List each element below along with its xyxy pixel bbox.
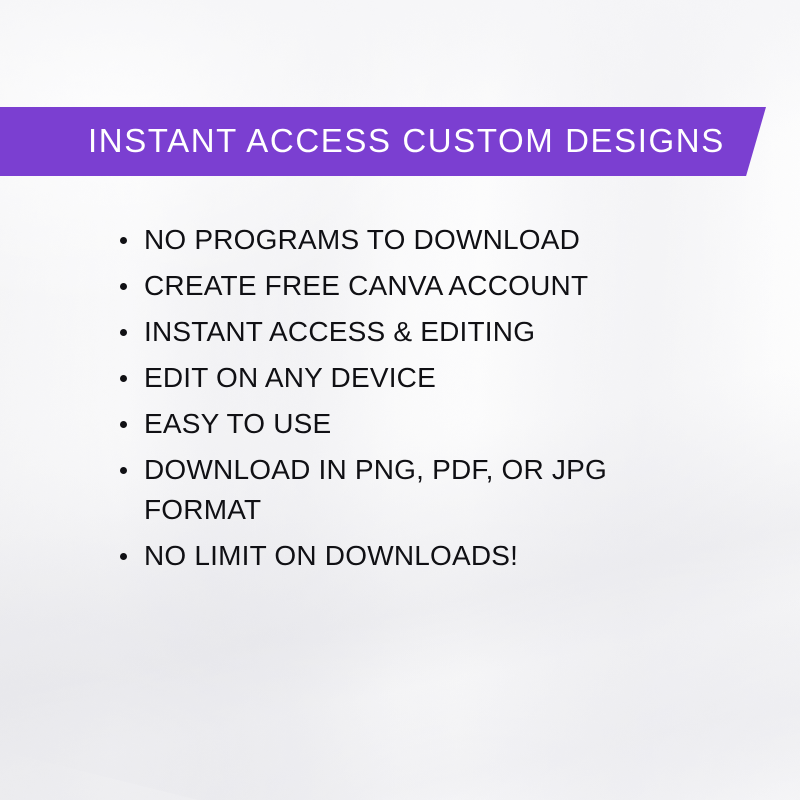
- list-item: EASY TO USE: [118, 404, 718, 444]
- page-title: INSTANT ACCESS CUSTOM DESIGNS: [88, 124, 725, 157]
- list-item: NO LIMIT ON DOWNLOADS!: [118, 536, 718, 576]
- list-item: EDIT ON ANY DEVICE: [118, 358, 718, 398]
- list-item: NO PROGRAMS TO DOWNLOAD: [118, 220, 718, 260]
- promo-graphic-canvas: INSTANT ACCESS CUSTOM DESIGNS NO PROGRAM…: [0, 0, 800, 800]
- list-item: CREATE FREE CANVA ACCOUNT: [118, 266, 718, 306]
- list-item: INSTANT ACCESS & EDITING: [118, 312, 718, 352]
- feature-list: NO PROGRAMS TO DOWNLOAD CREATE FREE CANV…: [118, 220, 718, 582]
- header-banner: INSTANT ACCESS CUSTOM DESIGNS: [0, 107, 766, 176]
- list-item: DOWNLOAD IN PNG, PDF, OR JPG FORMAT: [118, 450, 718, 530]
